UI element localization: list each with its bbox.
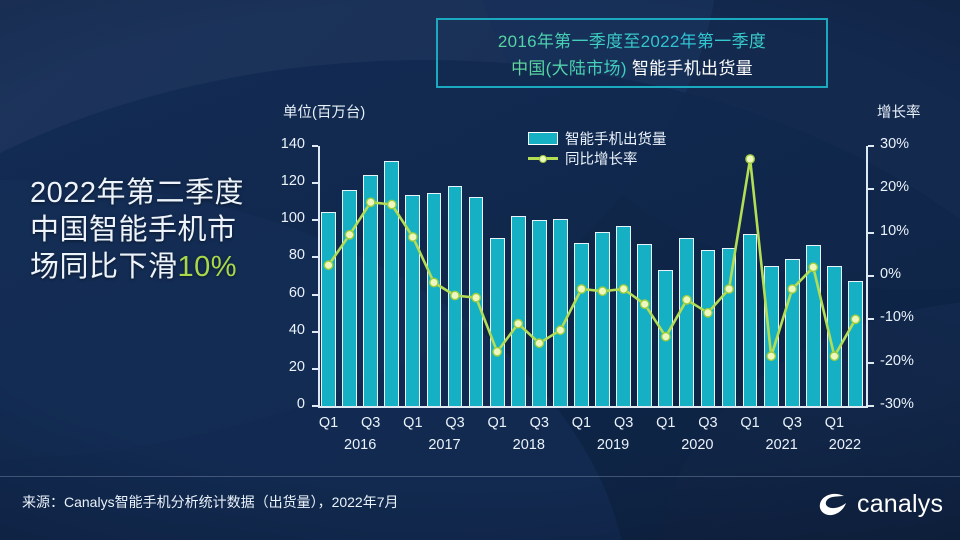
line-data-point bbox=[809, 263, 817, 271]
canalys-logo-text: canalys bbox=[857, 490, 943, 519]
x-axis-quarter-label: Q1 bbox=[728, 415, 772, 431]
left-axis-tick-label: 100 bbox=[259, 210, 305, 226]
line-data-point bbox=[493, 348, 501, 356]
right-axis-tick-label: 30% bbox=[880, 136, 940, 152]
x-axis-year-label: 2016 bbox=[330, 437, 390, 453]
right-axis-tick-label: -30% bbox=[880, 396, 940, 412]
line-data-point bbox=[641, 300, 649, 308]
line-data-point bbox=[746, 155, 754, 163]
right-axis-tick-label: 10% bbox=[880, 223, 940, 239]
right-axis-tick bbox=[868, 232, 874, 234]
x-axis-quarter-label: Q3 bbox=[770, 415, 814, 431]
headline-line-2: 中国智能手机市 bbox=[30, 212, 290, 249]
chart-plot-area: 14012010080604020030%20%10%0%-10%-20%-30… bbox=[318, 146, 866, 406]
headline-line-3-text: 场同比下滑 bbox=[30, 251, 178, 283]
line-data-point bbox=[598, 287, 606, 295]
x-axis-quarter-label: Q1 bbox=[812, 415, 856, 431]
headline-line-1: 2022年第二季度 bbox=[30, 175, 290, 212]
chart-title-box: 2016年第一季度至2022年第一季度 中国(大陆市场) 智能手机出货量 bbox=[436, 18, 828, 88]
line-data-point bbox=[704, 309, 712, 317]
line-data-point bbox=[535, 339, 543, 347]
line-data-point bbox=[514, 320, 522, 328]
canalys-logo: canalys bbox=[818, 489, 943, 519]
headline-highlight: 10% bbox=[178, 251, 238, 283]
right-axis-tick bbox=[868, 318, 874, 320]
line-data-point bbox=[324, 261, 332, 269]
x-axis-year-label: 2018 bbox=[499, 437, 559, 453]
line-data-point bbox=[451, 291, 459, 299]
line-data-point bbox=[409, 233, 417, 241]
x-axis-quarter-label: Q3 bbox=[602, 415, 646, 431]
line-data-point bbox=[725, 285, 733, 293]
x-axis-quarter-label: Q3 bbox=[686, 415, 730, 431]
headline: 2022年第二季度 中国智能手机市 场同比下滑10% bbox=[30, 175, 290, 286]
chart-title-line-1: 2016年第一季度至2022年第一季度 bbox=[498, 27, 766, 52]
line-data-point bbox=[430, 278, 438, 286]
line-data-point bbox=[388, 200, 396, 208]
right-axis-tick-label: 20% bbox=[880, 179, 940, 195]
source-note: 来源：Canalys智能手机分析统计数据（出货量），2022年7月 bbox=[22, 492, 399, 512]
x-axis-quarter-label: Q1 bbox=[307, 415, 351, 431]
growth-rate-line-series bbox=[318, 146, 868, 408]
line-data-point bbox=[788, 285, 796, 293]
left-axis-tick-label: 140 bbox=[259, 136, 305, 152]
x-axis-year-label: 2019 bbox=[583, 437, 643, 453]
line-data-point bbox=[851, 315, 859, 323]
line-data-point bbox=[556, 326, 564, 334]
legend-item-bar: 智能手机出货量 bbox=[528, 128, 667, 148]
left-axis-tick-label: 0 bbox=[259, 396, 305, 412]
x-axis-quarter-label: Q1 bbox=[559, 415, 603, 431]
left-axis-tick-label: 60 bbox=[259, 285, 305, 301]
line-data-point bbox=[577, 285, 585, 293]
left-axis-tick-label: 80 bbox=[259, 247, 305, 263]
left-axis-tick-label: 40 bbox=[259, 322, 305, 338]
x-axis-quarter-label: Q3 bbox=[517, 415, 561, 431]
line-data-point bbox=[472, 294, 480, 302]
x-axis-quarter-label: Q1 bbox=[475, 415, 519, 431]
right-axis-tick bbox=[868, 145, 874, 147]
x-axis-year-label: 2017 bbox=[414, 437, 474, 453]
headline-line-3: 场同比下滑10% bbox=[30, 249, 290, 286]
line-data-point bbox=[767, 352, 775, 360]
left-axis-tick-label: 20 bbox=[259, 359, 305, 375]
chart-title-region: 中国(大陆市场) bbox=[511, 59, 627, 78]
x-axis-year-label: 2020 bbox=[667, 437, 727, 453]
left-axis-tick-label: 120 bbox=[259, 173, 305, 189]
x-axis-year-label: 2022 bbox=[815, 437, 875, 453]
chart-title-line-2: 中国(大陆市场) 智能手机出货量 bbox=[511, 54, 753, 79]
right-axis-tick bbox=[868, 188, 874, 190]
x-axis-quarter-label: Q1 bbox=[391, 415, 435, 431]
right-axis-tick-label: -10% bbox=[880, 309, 940, 325]
x-axis-quarter-label: Q1 bbox=[644, 415, 688, 431]
x-axis-quarter-label: Q3 bbox=[433, 415, 477, 431]
line-data-point bbox=[619, 285, 627, 293]
right-axis-tick bbox=[868, 405, 874, 407]
legend-bar-swatch-icon bbox=[528, 132, 558, 145]
slide-canvas: 2022年第二季度 中国智能手机市 场同比下滑10% 2016年第一季度至202… bbox=[0, 0, 960, 540]
left-axis-caption: 单位(百万台) bbox=[283, 101, 365, 122]
right-axis-tick-label: 0% bbox=[880, 266, 940, 282]
right-axis-tick bbox=[868, 275, 874, 277]
x-axis-quarter-label: Q3 bbox=[349, 415, 393, 431]
right-axis-tick bbox=[868, 362, 874, 364]
right-axis-caption: 增长率 bbox=[877, 101, 921, 122]
footer-divider bbox=[0, 476, 960, 477]
x-axis-year-label: 2021 bbox=[752, 437, 812, 453]
line-data-point bbox=[345, 231, 353, 239]
right-axis-tick-label: -20% bbox=[880, 353, 940, 369]
canalys-mark-icon bbox=[818, 489, 850, 519]
line-data-point bbox=[367, 198, 375, 206]
line-data-point bbox=[662, 333, 670, 341]
line-data-point bbox=[830, 352, 838, 360]
line-data-point bbox=[683, 296, 691, 304]
chart-title-metric: 智能手机出货量 bbox=[632, 59, 753, 78]
